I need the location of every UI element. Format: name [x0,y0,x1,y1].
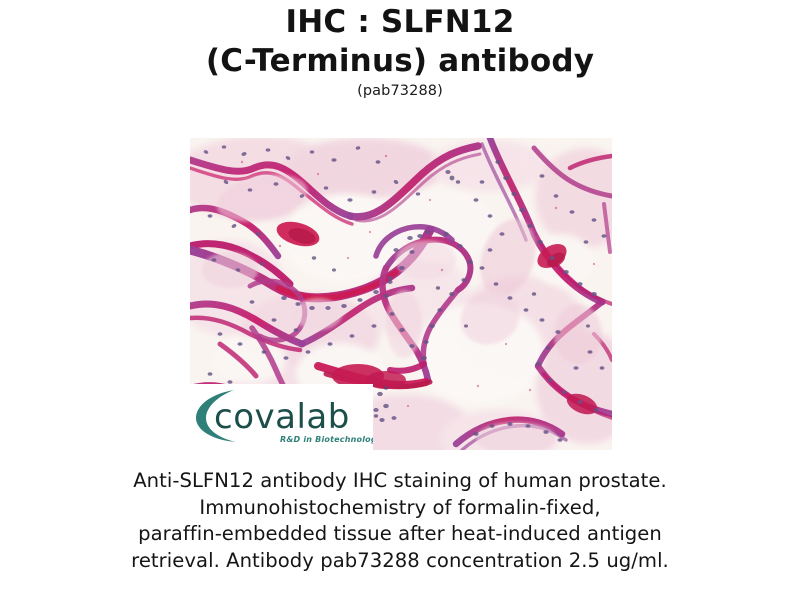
catalog-number: (pab73288) [0,83,800,99]
covalab-logo-graphic: covalab R&D in Biotechnology [190,384,373,450]
figure-header: IHC : SLFN12 (C-Terminus) antibody (pab7… [0,0,800,99]
caption-line-4: retrieval. Antibody pab73288 concentrati… [60,548,740,575]
covalab-tagline: R&D in Biotechnology [280,435,373,444]
caption-line-1: Anti-SLFN12 antibody IHC staining of hum… [60,468,740,495]
caption-line-2: Immunohistochemistry of formalin-fixed, [60,495,740,522]
figure-caption: Anti-SLFN12 antibody IHC staining of hum… [60,468,740,574]
page-title-line-1: IHC : SLFN12 [0,6,800,39]
figure-page: IHC : SLFN12 (C-Terminus) antibody (pab7… [0,0,800,600]
page-title-line-2: (C-Terminus) antibody [0,45,800,78]
caption-line-3: paraffin-embedded tissue after heat-indu… [60,521,740,548]
covalab-logo: covalab R&D in Biotechnology [190,384,373,450]
covalab-wordmark: covalab [214,397,350,437]
